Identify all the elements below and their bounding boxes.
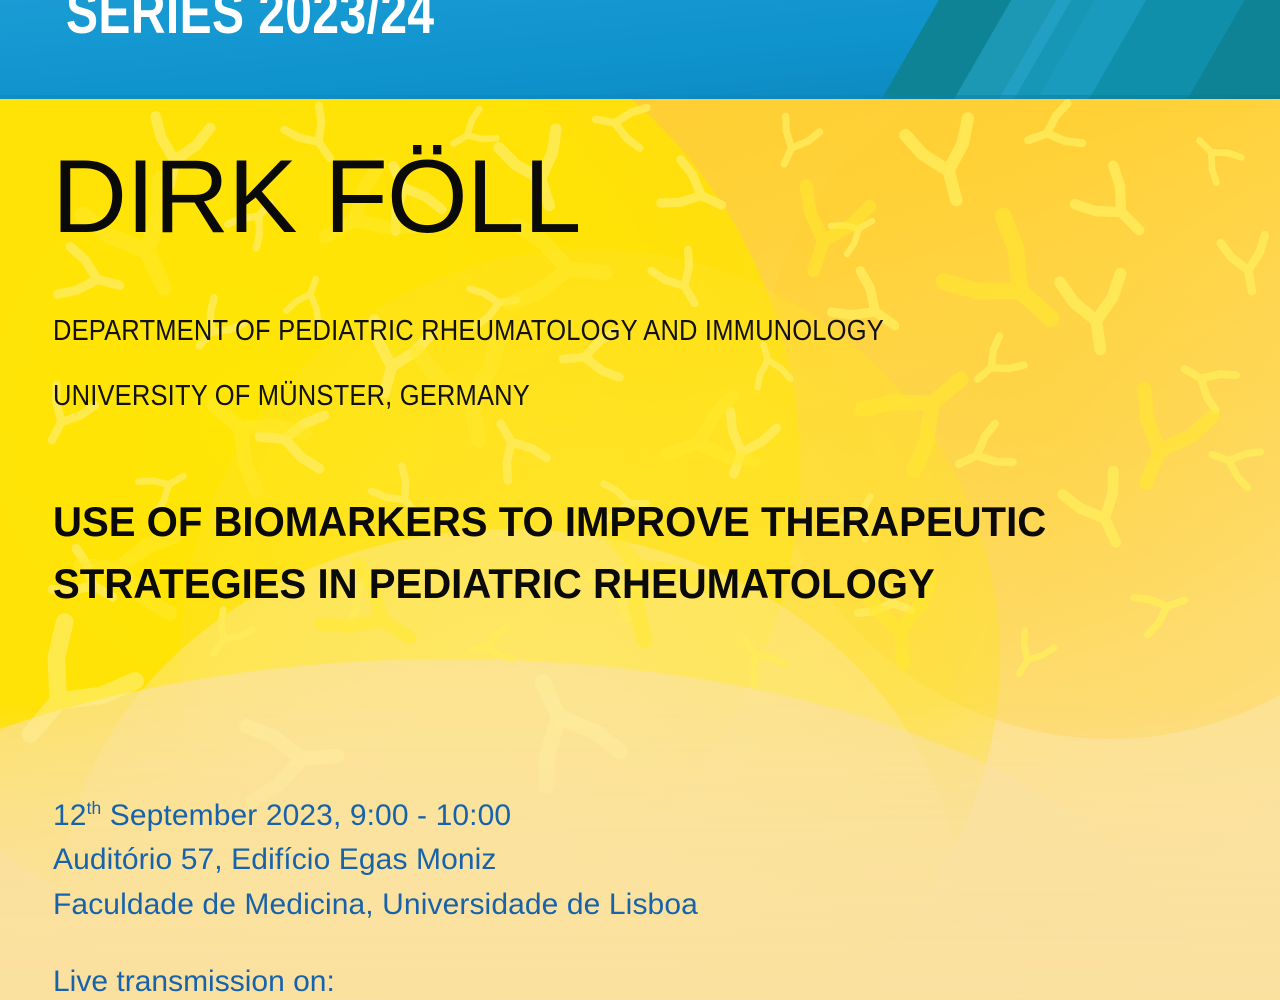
talk-title: USE OF BIOMARKERS TO IMPROVE THERAPEUTIC… bbox=[53, 491, 1132, 615]
live-transmission-label: Live transmission on: bbox=[53, 965, 335, 999]
event-date-rest: September 2023, 9:00 - 10:00 bbox=[101, 799, 511, 832]
banner-bottom-edge bbox=[0, 95, 1280, 99]
event-venue-room: Auditório 57, Edifício Egas Moniz bbox=[53, 838, 698, 882]
series-title: SERIES 2023/24 bbox=[66, 0, 435, 43]
event-date-ordinal-suffix: th bbox=[87, 798, 102, 818]
speaker-name: DIRK FÖLL bbox=[52, 145, 580, 249]
event-details: 12th September 2023, 9:00 - 10:00 Auditó… bbox=[53, 794, 698, 927]
speaker-affiliation-department: DEPARTMENT OF PEDIATRIC RHEUMATOLOGY AND… bbox=[53, 315, 884, 348]
event-date-day: 12 bbox=[53, 799, 87, 832]
seminar-poster: SERIES 2023/24 bbox=[0, 0, 1280, 1000]
poster-header-banner: SERIES 2023/24 bbox=[0, 0, 1280, 99]
event-venue-institution: Faculdade de Medicina, Universidade de L… bbox=[53, 883, 698, 927]
poster-content: DIRK FÖLL DEPARTMENT OF PEDIATRIC RHEUMA… bbox=[0, 99, 1280, 1000]
event-date-line: 12th September 2023, 9:00 - 10:00 bbox=[53, 794, 698, 838]
speaker-affiliation-university: UNIVERSITY OF MÜNSTER, GERMANY bbox=[53, 380, 530, 413]
